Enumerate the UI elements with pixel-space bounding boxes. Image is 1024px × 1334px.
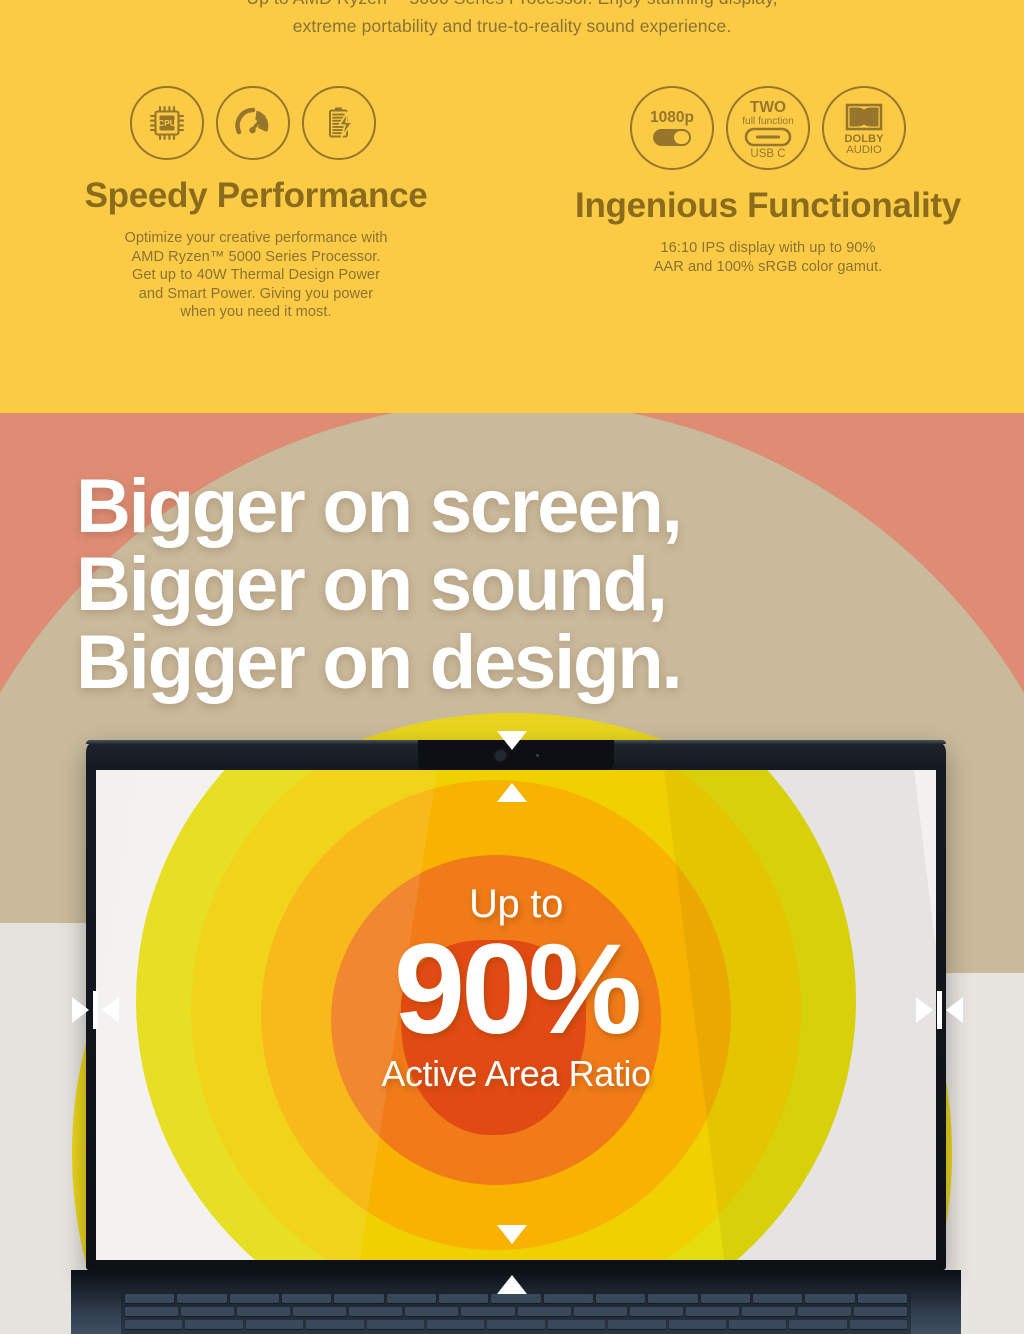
feature-title-ingenious-functionality: Ingenious Functionality	[575, 186, 961, 225]
feature-body-line: 16:10 IPS display with up to 90%	[654, 239, 883, 258]
keyboard-key	[608, 1320, 665, 1329]
keyboard-key	[669, 1320, 726, 1329]
keyboard-key	[648, 1294, 697, 1303]
laptop-lid: Up to 90% Active Area Ratio	[86, 740, 946, 1270]
triangle-up-icon	[497, 1275, 527, 1294]
usb-c-label-bottom: USB C	[750, 148, 785, 160]
keyboard-key	[427, 1320, 484, 1329]
measure-marker-top-inner	[497, 783, 527, 802]
cpu-icon-label: CPU	[158, 118, 176, 128]
keyboard-key	[548, 1320, 605, 1329]
feature-body-speedy-performance: Optimize your creative performance with …	[124, 229, 387, 322]
keyboard-key	[230, 1294, 279, 1303]
keyboard-key	[293, 1307, 346, 1316]
keyboard-key	[596, 1294, 645, 1303]
keyboard-key	[349, 1307, 402, 1316]
keyboard-key	[491, 1294, 540, 1303]
keyboard-key	[518, 1307, 571, 1316]
keyboard-key	[742, 1307, 795, 1316]
keyboard-key	[237, 1307, 290, 1316]
feature-body-line: AAR and 100% sRGB color gamut.	[654, 258, 883, 277]
keyboard-key	[461, 1307, 514, 1316]
keyboard-key	[854, 1307, 907, 1316]
measure-marker-left	[72, 991, 119, 1029]
feature-body-ingenious-functionality: 16:10 IPS display with up to 90% AAR and…	[654, 239, 883, 276]
camera-indicator-dot	[536, 754, 539, 757]
intro-line-1: Up to AMD Ryzen™ 5000 Series Processor. …	[0, 0, 1024, 12]
keyboard-key	[630, 1307, 683, 1316]
triangle-right-icon	[916, 997, 933, 1023]
measure-marker-right	[916, 991, 963, 1029]
keyboard-key	[177, 1294, 226, 1303]
triangle-left-icon	[946, 997, 963, 1023]
keyboard-key	[487, 1320, 544, 1329]
laptop-screen: Up to 90% Active Area Ratio	[96, 770, 936, 1260]
keyboard-key	[858, 1294, 907, 1303]
triangle-up-icon	[497, 783, 527, 802]
dolby-label-bottom: AUDIO	[846, 144, 882, 156]
feature-body-line: Optimize your creative performance with	[124, 229, 387, 248]
battery-charge-icon	[302, 86, 376, 160]
keyboard-key	[789, 1320, 846, 1329]
callout-value: 90%	[96, 929, 936, 1051]
triangle-down-icon	[497, 1225, 527, 1244]
features-section: Up to AMD Ryzen™ 5000 Series Processor. …	[0, 0, 1024, 413]
dolby-audio-icon: DOLBY AUDIO	[822, 86, 906, 170]
keyboard-key	[574, 1307, 627, 1316]
hero-section: Bigger on screen, Bigger on sound, Bigge…	[0, 413, 1024, 1334]
triangle-down-icon	[497, 731, 527, 750]
keyboard-key	[282, 1294, 331, 1303]
feature-title-line-2: Functionality	[747, 186, 961, 225]
keyboard-key	[185, 1320, 242, 1329]
keyboard-key	[125, 1294, 174, 1303]
keyboard-row	[121, 1318, 911, 1331]
measure-bar	[937, 991, 942, 1029]
intro-line-2: extreme portability and true-to-reality …	[0, 12, 1024, 40]
keyboard-key	[334, 1294, 383, 1303]
measure-marker-bottom-inner	[497, 1275, 527, 1294]
feature-body-line: when you need it most.	[124, 303, 387, 322]
feature-title-line-1: Ingenious	[575, 186, 738, 225]
cpu-icon: CPU	[130, 86, 204, 160]
triangle-right-icon	[72, 997, 89, 1023]
triangle-left-icon	[102, 997, 119, 1023]
intro-copy: Up to AMD Ryzen™ 5000 Series Processor. …	[0, 0, 1024, 40]
keyboard-row	[121, 1305, 911, 1318]
feature-title-speedy-performance: Speedy Performance	[85, 176, 428, 215]
measure-bar	[93, 991, 98, 1029]
product-marketing-page: Up to AMD Ryzen™ 5000 Series Processor. …	[0, 0, 1024, 1334]
keyboard-key	[306, 1320, 363, 1329]
keyboard-key	[753, 1294, 802, 1303]
keyboard-key	[439, 1294, 488, 1303]
feature-title-line-1: Speedy	[85, 176, 208, 215]
keyboard-key	[850, 1320, 907, 1329]
keyboard-key	[729, 1320, 786, 1329]
feature-column-speedy-performance: CPU	[0, 86, 512, 322]
usb-c-label-top: TWO	[750, 99, 786, 116]
usb-c-icon: TWO full function USB C	[726, 86, 810, 170]
keyboard-key	[181, 1307, 234, 1316]
measure-marker-top-outer	[497, 731, 527, 750]
laptop-keyboard	[121, 1292, 911, 1334]
feature-columns: CPU	[0, 86, 1024, 322]
laptop-product-image: Up to 90% Active Area Ratio	[86, 740, 946, 1334]
keyboard-key	[405, 1307, 458, 1316]
hero-headline-line-3: Bigger on design.	[76, 624, 681, 702]
keyboard-key	[701, 1294, 750, 1303]
keyboard-key	[686, 1307, 739, 1316]
keyboard-key	[798, 1307, 851, 1316]
keyboard-key	[367, 1320, 424, 1329]
keyboard-key	[125, 1320, 182, 1329]
keyboard-key	[805, 1294, 854, 1303]
icon-row-performance: CPU	[130, 86, 376, 160]
feature-body-line: AMD Ryzen™ 5000 Series Processor.	[124, 248, 387, 267]
screen-callout: Up to 90% Active Area Ratio	[96, 882, 936, 1095]
usb-c-label-mid: full function	[742, 116, 794, 127]
keyboard-key	[387, 1294, 436, 1303]
feature-title-line-2: Performance	[217, 176, 428, 215]
measure-marker-bottom-outer	[497, 1225, 527, 1244]
speedometer-icon	[216, 86, 290, 160]
icon-row-functionality: 1080p TWO full function USB C	[630, 86, 906, 170]
keyboard-key	[544, 1294, 593, 1303]
webcam-icon-label: 1080p	[650, 109, 694, 126]
callout-caption: Active Area Ratio	[96, 1053, 936, 1095]
hero-headline-line-2: Bigger on sound,	[76, 546, 681, 624]
hero-headline-line-1: Bigger on screen,	[76, 468, 681, 546]
feature-body-line: Get up to 40W Thermal Design Power	[124, 266, 387, 285]
webcam-1080p-icon: 1080p	[630, 86, 714, 170]
keyboard-key	[246, 1320, 303, 1329]
feature-column-ingenious-functionality: 1080p TWO full function USB C	[512, 86, 1024, 322]
hero-headline: Bigger on screen, Bigger on sound, Bigge…	[76, 468, 681, 702]
keyboard-key	[125, 1307, 178, 1316]
feature-body-line: and Smart Power. Giving you power	[124, 285, 387, 304]
